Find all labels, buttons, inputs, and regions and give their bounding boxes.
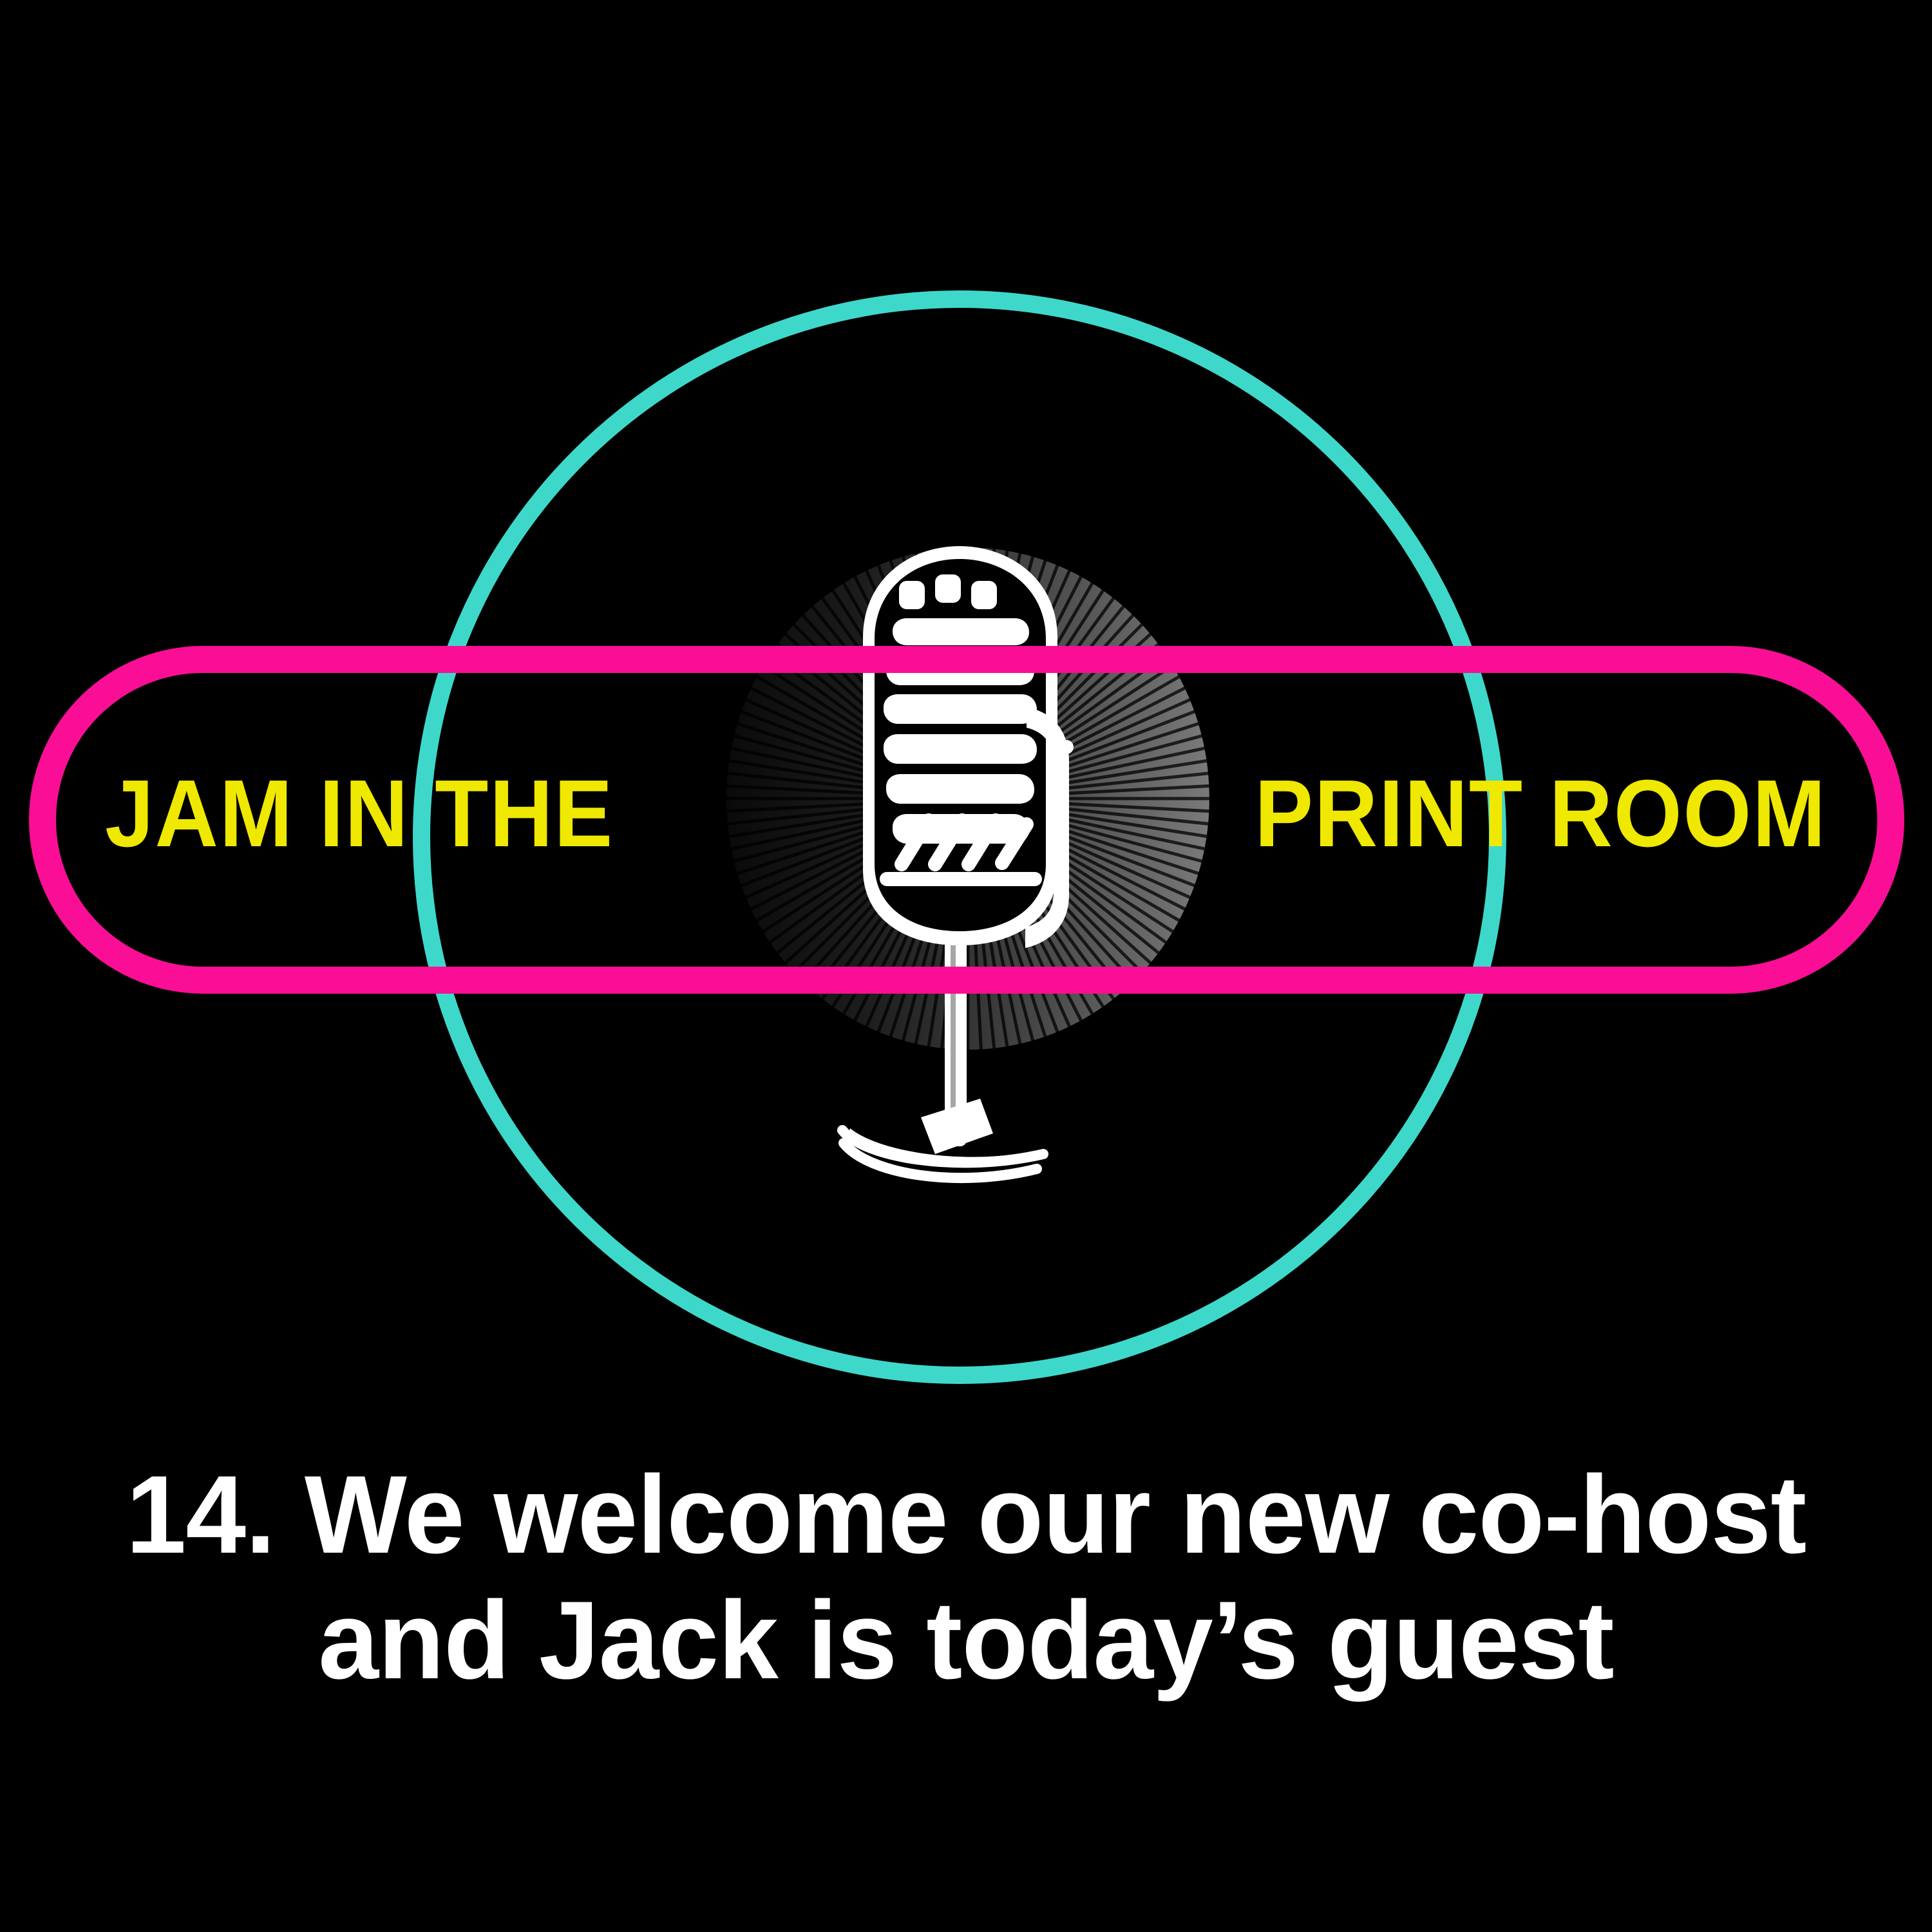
wordmark-left: JAM IN THE [105, 766, 614, 862]
wordmark-right: PRINT ROOM [1255, 766, 1827, 862]
episode-caption: 14. We welcome our new co-host and Jack … [0, 1452, 1932, 1703]
logo-area: JAM IN THE PRINT ROOM [0, 0, 1932, 1455]
caption-line-1: 14. We welcome our new co-host [19, 1452, 1913, 1578]
caption-line-2: and Jack is today’s guest [19, 1578, 1913, 1703]
podcast-episode-cover: JAM IN THE PRINT ROOM 14. We welcome our… [0, 0, 1932, 1932]
